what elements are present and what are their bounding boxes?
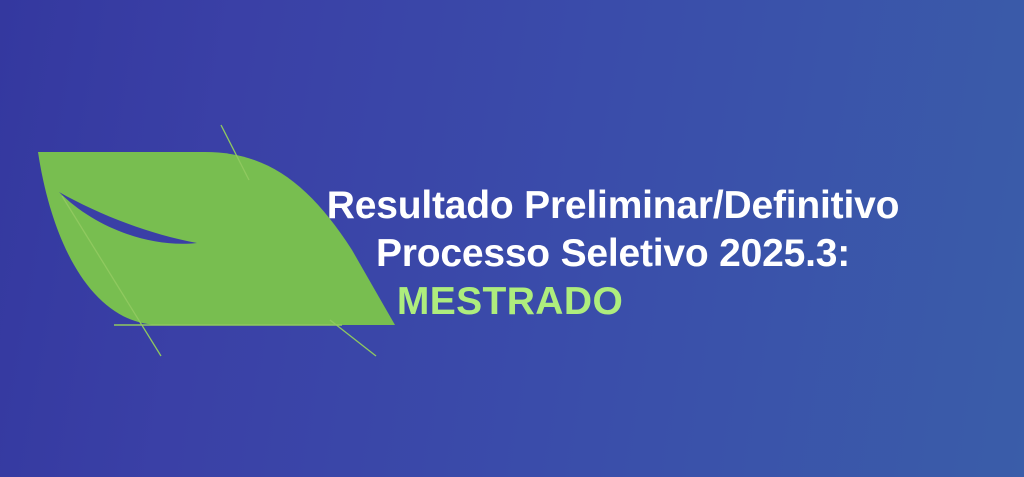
headline-line-2: Processo Seletivo 2025.3: (300, 230, 926, 278)
hairline-accent-top (221, 125, 249, 180)
hairline-accent-long (62, 196, 161, 356)
headline-line-1: Resultado Preliminar/Definitivo (300, 182, 926, 230)
leaf-vein-shape (59, 192, 197, 244)
headline-block: Resultado Preliminar/Definitivo Processo… (300, 182, 926, 334)
headline-line-3-accent: MESTRADO (397, 278, 623, 326)
headline-line-3-container: MESTRADO (300, 278, 720, 334)
announcement-banner: Resultado Preliminar/Definitivo Processo… (0, 0, 1024, 477)
